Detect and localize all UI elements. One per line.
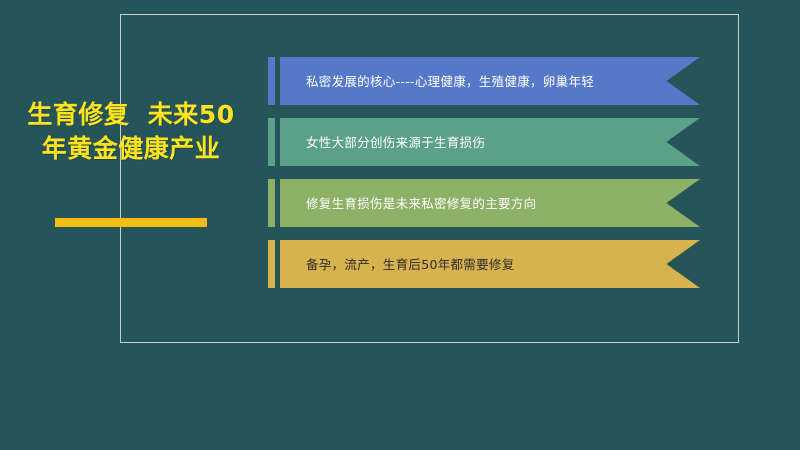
banner-item-4[interactable]: 备孕，流产，生育后50年都需要修复 — [268, 240, 700, 288]
banner-label-3: 修复生育损伤是未来私密修复的主要方向 — [280, 195, 582, 212]
banner-tab-2 — [268, 118, 275, 166]
title-underline — [55, 218, 207, 227]
banner-item-1[interactable]: 私密发展的核心----心理健康，生殖健康，卵巢年轻 — [268, 57, 700, 105]
banner-body-4[interactable]: 备孕，流产，生育后50年都需要修复 — [280, 240, 700, 288]
banner-item-2[interactable]: 女性大部分创伤来源于生育损伤 — [268, 118, 700, 166]
banner-body-3[interactable]: 修复生育损伤是未来私密修复的主要方向 — [280, 179, 700, 227]
banner-label-4: 备孕，流产，生育后50年都需要修复 — [280, 256, 561, 273]
slide-canvas: 生育修复 未来50年黄金健康产业 私密发展的核心----心理健康，生殖健康，卵巢… — [0, 0, 800, 450]
banner-gap-3 — [275, 179, 280, 227]
banner-gap-2 — [275, 118, 280, 166]
banner-gap-4 — [275, 240, 280, 288]
banner-item-3[interactable]: 修复生育损伤是未来私密修复的主要方向 — [268, 179, 700, 227]
banner-body-1[interactable]: 私密发展的核心----心理健康，生殖健康，卵巢年轻 — [280, 57, 700, 105]
page-title: 生育修复 未来50年黄金健康产业 — [26, 98, 236, 166]
banner-body-2[interactable]: 女性大部分创伤来源于生育损伤 — [280, 118, 700, 166]
title-block: 生育修复 未来50年黄金健康产业 — [26, 98, 236, 166]
banner-label-1: 私密发展的核心----心理健康，生殖健康，卵巢年轻 — [280, 73, 640, 90]
banner-tab-4 — [268, 240, 275, 288]
banner-label-2: 女性大部分创伤来源于生育损伤 — [280, 134, 531, 151]
banner-tab-3 — [268, 179, 275, 227]
banner-gap-1 — [275, 57, 280, 105]
banner-list: 私密发展的核心----心理健康，生殖健康，卵巢年轻 女性大部分创伤来源于生育损伤… — [268, 57, 700, 288]
banner-tab-1 — [268, 57, 275, 105]
